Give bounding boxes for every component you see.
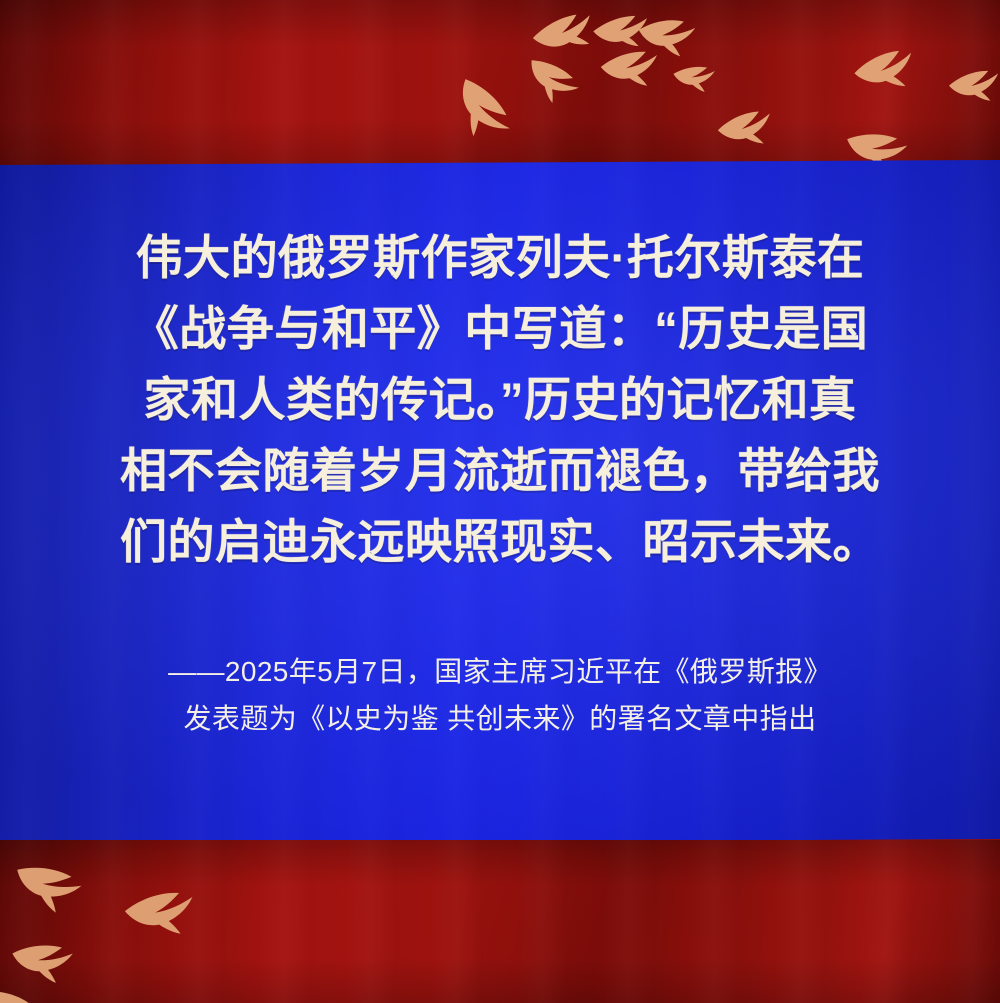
attribution-line-1: ——2025年5月7日，国家主席习近平在《俄罗斯报》 (0, 648, 1000, 695)
dove-icon-group-top (445, 11, 1000, 166)
red-silk-band-bottom (0, 840, 1000, 1003)
quote-line-4: 相不会随着岁月流逝而褪色，带给我 (0, 435, 1000, 506)
quote-line-3: 家和人类的传记。”历史的记忆和真 (0, 364, 1000, 435)
quote-block: 伟大的俄罗斯作家列夫·托尔斯泰在 《战争与和平》中写道：“历史是国 家和人类的传… (0, 222, 1000, 577)
dove-icon (672, 65, 715, 93)
dove-icon (8, 856, 84, 917)
dove-icon (716, 109, 775, 151)
quote-line-2: 《战争与和平》中写道：“历史是国 (0, 293, 1000, 364)
quote-line-1: 伟大的俄罗斯作家列夫·托尔斯泰在 (0, 222, 1000, 293)
silk-sheen-overlay-top (0, 0, 1000, 166)
dove-icon (636, 17, 695, 58)
dove-icon (519, 51, 582, 110)
dove-icon (592, 14, 651, 52)
dove-icon-group-bottom (0, 856, 195, 1003)
dove-icon (124, 892, 195, 938)
red-silk-band-top (0, 0, 1000, 166)
attribution-line-2: 发表题为《以史为鉴 共创未来》的署名文章中指出 (0, 695, 1000, 742)
silk-sheen-overlay-bottom (0, 840, 1000, 1003)
poster-root: 伟大的俄罗斯作家列夫·托尔斯泰在 《战争与和平》中写道：“历史是国 家和人类的传… (0, 0, 1000, 1003)
quote-line-5: 们的启迪永远映照现实、昭示未来。 (0, 506, 1000, 577)
dove-icon (842, 127, 909, 166)
dove-icon (600, 51, 659, 89)
dove-icon (852, 48, 918, 96)
attribution-block: ——2025年5月7日，国家主席习近平在《俄罗斯报》 发表题为《以史为鉴 共创未… (0, 648, 1000, 742)
dove-icon (9, 941, 73, 985)
dove-icon (530, 11, 597, 59)
dove-icon (948, 69, 1000, 104)
dove-icon (0, 981, 40, 1003)
dove-icon (445, 71, 514, 147)
bird-flock-top (0, 0, 1000, 166)
bird-flock-bottom (0, 840, 1000, 1003)
